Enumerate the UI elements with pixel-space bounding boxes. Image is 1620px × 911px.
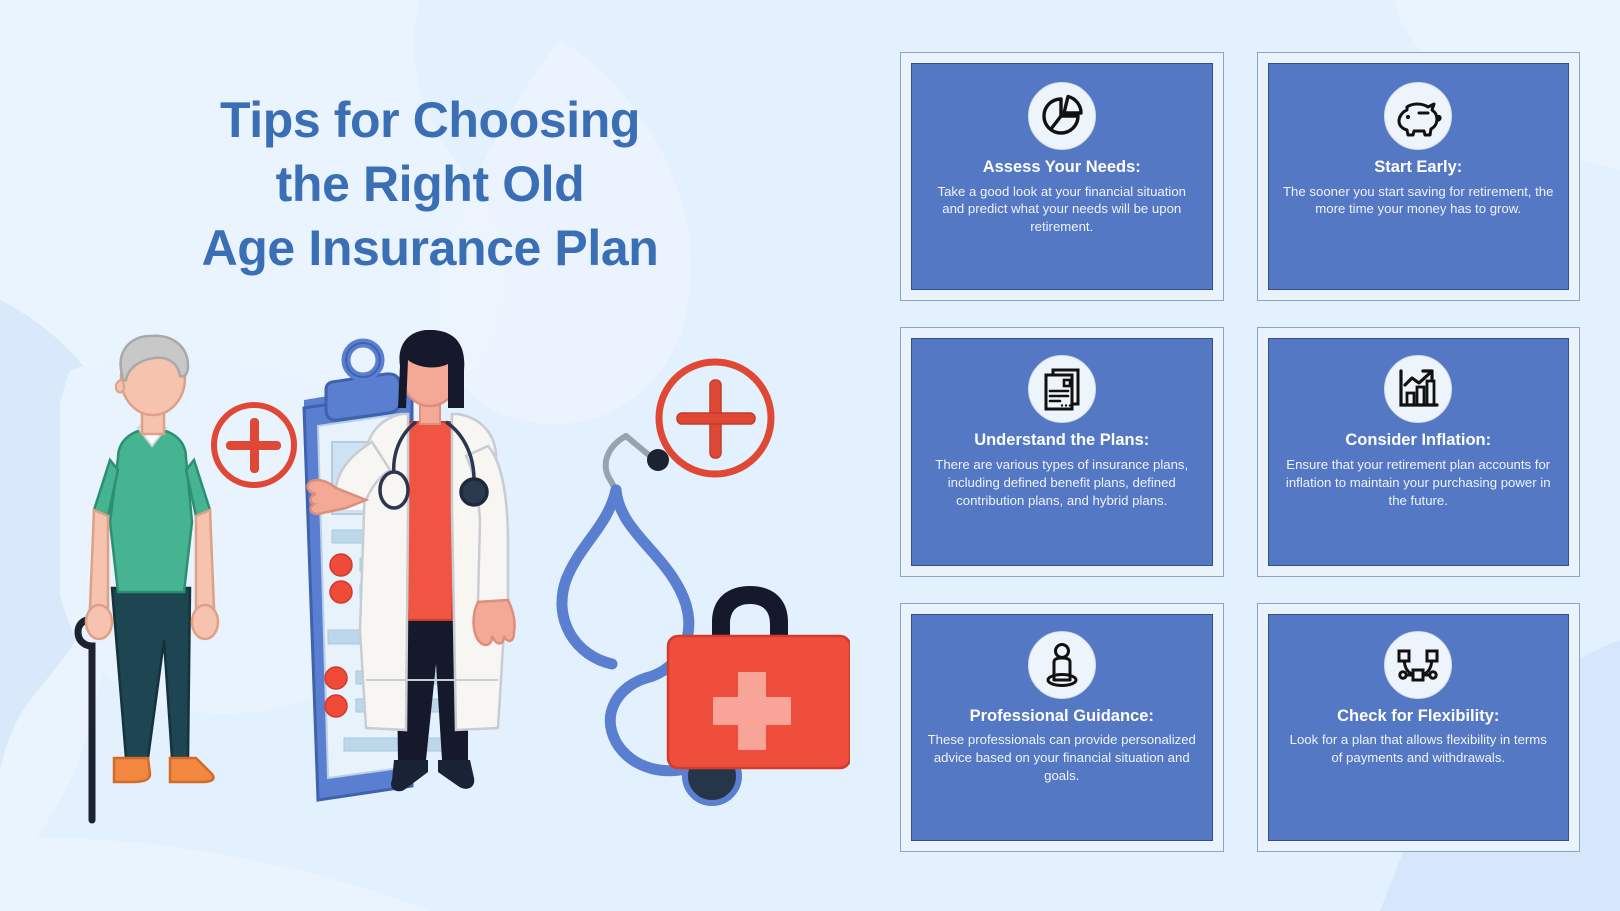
elder-pants bbox=[112, 588, 190, 758]
left-panel: Tips for Choosing the Right Old Age Insu… bbox=[0, 0, 860, 911]
card-title: Assess Your Needs: bbox=[983, 158, 1141, 178]
tip-card-check-for-flexibility[interactable]: Check for Flexibility: Look for a plan t… bbox=[1257, 603, 1581, 852]
tip-card-start-early[interactable]: Start Early: The sooner you start saving… bbox=[1257, 52, 1581, 301]
card-panel: Consider Inflation: Ensure that your ret… bbox=[1268, 338, 1570, 565]
tip-card-professional-guidance[interactable]: Professional Guidance: These professiona… bbox=[900, 603, 1224, 852]
title-line-3: Age Insurance Plan bbox=[120, 216, 740, 280]
card-body: Look for a plan that allows flexibility … bbox=[1279, 731, 1559, 766]
card-body: These professionals can provide personal… bbox=[922, 731, 1202, 784]
elder-arm-left bbox=[90, 510, 108, 608]
tip-card-consider-inflation[interactable]: Consider Inflation: Ensure that your ret… bbox=[1257, 327, 1581, 576]
form-bullet-dot bbox=[325, 667, 347, 689]
card-panel: Start Early: The sooner you start saving… bbox=[1268, 63, 1570, 290]
form-bullet-dot bbox=[330, 554, 352, 576]
elder-shoe-left bbox=[114, 758, 150, 782]
doctor-shoe-right bbox=[438, 760, 474, 789]
medical-bag bbox=[668, 586, 850, 768]
piggy-bank-icon bbox=[1384, 82, 1452, 150]
card-body: The sooner you start saving for retireme… bbox=[1279, 183, 1559, 218]
card-body: There are various types of insurance pla… bbox=[922, 456, 1202, 509]
growth-bar-chart-icon bbox=[1384, 355, 1452, 423]
tip-card-assess-your-needs[interactable]: Assess Your Needs: Take a good look at y… bbox=[900, 52, 1224, 301]
red-cross-circle-large bbox=[659, 362, 771, 474]
bezier-curve-icon bbox=[1384, 631, 1452, 699]
card-title: Consider Inflation: bbox=[1345, 431, 1491, 451]
infographic-canvas: Tips for Choosing the Right Old Age Insu… bbox=[0, 0, 1620, 911]
title-line-2: the Right Old bbox=[120, 152, 740, 216]
bag-cross-horizontal bbox=[713, 697, 791, 725]
elder-ear bbox=[116, 380, 124, 393]
card-body: Ensure that your retirement plan account… bbox=[1279, 456, 1559, 509]
hero-illustration bbox=[60, 330, 850, 840]
card-title: Understand the Plans: bbox=[974, 431, 1149, 451]
elder-hand-left bbox=[86, 605, 112, 639]
form-bullet-dot bbox=[330, 581, 352, 603]
card-panel: Check for Flexibility: Look for a plan t… bbox=[1268, 614, 1570, 841]
doctor-shirt bbox=[404, 422, 456, 620]
elder-shirt bbox=[110, 428, 192, 592]
elder-arm-right bbox=[196, 510, 214, 608]
card-panel: Understand the Plans: There are various … bbox=[911, 338, 1213, 565]
pie-chart-icon bbox=[1028, 82, 1096, 150]
elder-shoe-right bbox=[170, 758, 214, 782]
person-presenter-icon bbox=[1028, 631, 1096, 699]
doctor-hand-right bbox=[474, 600, 515, 645]
tips-card-grid: Assess Your Needs: Take a good look at y… bbox=[900, 52, 1580, 852]
bag-handle bbox=[712, 586, 788, 642]
card-panel: Professional Guidance: These professiona… bbox=[911, 614, 1213, 841]
elder-hand-right bbox=[192, 605, 218, 639]
card-title: Professional Guidance: bbox=[970, 707, 1154, 727]
card-title: Check for Flexibility: bbox=[1337, 707, 1499, 727]
card-title: Start Early: bbox=[1374, 158, 1462, 178]
card-body: Take a good look at your financial situa… bbox=[922, 183, 1202, 236]
title-line-1: Tips for Choosing bbox=[120, 88, 740, 152]
documents-icon bbox=[1028, 355, 1096, 423]
card-panel: Assess Your Needs: Take a good look at y… bbox=[911, 63, 1213, 290]
page-title: Tips for Choosing the Right Old Age Insu… bbox=[120, 88, 740, 280]
form-bullet-dot bbox=[325, 695, 347, 717]
tip-card-understand-the-plans[interactable]: Understand the Plans: There are various … bbox=[900, 327, 1224, 576]
